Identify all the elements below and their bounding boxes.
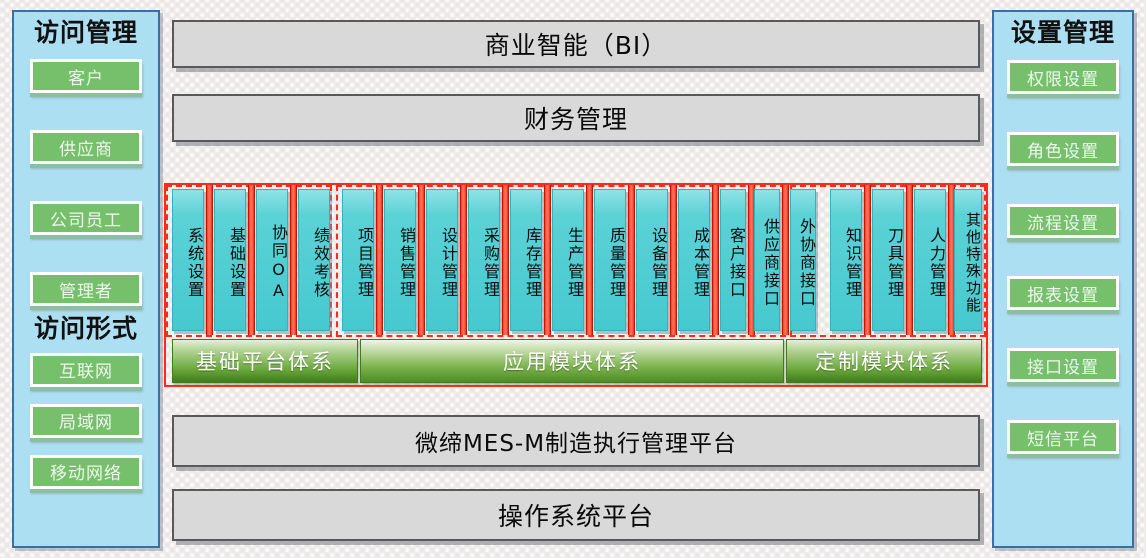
system-bar-application-modules[interactable]: 应用模块体系: [360, 339, 784, 383]
left-subitem-lan[interactable]: 局域网: [30, 404, 142, 438]
module-column-equipment-management[interactable]: 设备管理: [636, 189, 668, 331]
module-label: 成本管理: [679, 200, 709, 325]
right-settings-panel: 设置管理 权限设置 角色设置 流程设置 报表设置 接口设置 短信平台: [992, 10, 1134, 548]
left-item-label: 管理者: [59, 277, 113, 302]
left-panel-subtitle: 访问形式: [14, 316, 158, 342]
left-item-supplier[interactable]: 供应商: [30, 130, 142, 164]
system-bar-row: 基础平台体系 应用模块体系 定制模块体系: [164, 339, 988, 383]
module-column-other-special-functions[interactable]: 其他特殊功能: [954, 189, 982, 331]
bar-label: 微缔MES-M制造执行管理平台: [415, 424, 737, 458]
left-item-customer[interactable]: 客户: [30, 59, 142, 93]
bar-label: 商业智能（BI）: [485, 26, 668, 62]
module-label: 设备管理: [637, 200, 667, 325]
module-column-supplier-interface[interactable]: 供应商接口: [754, 189, 780, 331]
module-column-design-management[interactable]: 设计管理: [426, 189, 458, 331]
right-item-interface-settings[interactable]: 接口设置: [1007, 348, 1119, 382]
module-label: 知识管理: [831, 200, 861, 325]
column-separator: [712, 185, 719, 335]
column-separator: [376, 185, 383, 335]
module-label: 客户接口: [721, 200, 745, 325]
module-column-human-resource-management[interactable]: 人力管理: [914, 189, 946, 331]
module-column-inventory-management[interactable]: 库存管理: [510, 189, 542, 331]
module-column-outsourcing-interface[interactable]: 外协商接口: [790, 189, 816, 331]
system-bar-custom-modules[interactable]: 定制模块体系: [786, 339, 982, 383]
bar-operating-system-platform: 操作系统平台: [172, 489, 980, 541]
right-item-label: 接口设置: [1027, 353, 1099, 378]
module-column-basic-settings[interactable]: 基础设置: [214, 189, 246, 331]
module-label: 刀具管理: [873, 200, 903, 325]
left-item-employee[interactable]: 公司员工: [30, 201, 142, 235]
bar-label: 操作系统平台: [498, 497, 654, 533]
column-separator: [544, 185, 551, 335]
module-label: 人力管理: [915, 200, 945, 325]
module-label: 采购管理: [469, 200, 499, 325]
right-item-label: 权限设置: [1027, 65, 1099, 90]
bar-finance-management: 财务管理: [172, 94, 980, 142]
right-item-role-settings[interactable]: 角色设置: [1007, 132, 1119, 166]
column-separator: [290, 185, 297, 335]
system-bar-label: 定制模块体系: [815, 346, 953, 376]
column-separator: [782, 185, 789, 335]
module-column-performance-assessment[interactable]: 绩效考核: [298, 189, 330, 331]
module-column-knowledge-management[interactable]: 知识管理: [830, 189, 862, 331]
left-item-label: 供应商: [59, 135, 113, 160]
module-column-collaborative-oa[interactable]: 协同OA: [256, 189, 288, 331]
bar-business-intelligence: 商业智能（BI）: [172, 20, 980, 68]
module-column-tooling-management[interactable]: 刀具管理: [872, 189, 904, 331]
module-label: 设计管理: [427, 200, 457, 325]
system-bar-basic-platform[interactable]: 基础平台体系: [172, 339, 358, 383]
module-column-customer-interface[interactable]: 客户接口: [720, 189, 746, 331]
left-item-manager[interactable]: 管理者: [30, 272, 142, 306]
column-separator: [586, 185, 593, 335]
left-subitem-internet[interactable]: 互联网: [30, 353, 142, 387]
left-subitem-label: 互联网: [59, 357, 113, 382]
left-item-label: 客户: [68, 64, 104, 89]
right-item-permission-settings[interactable]: 权限设置: [1007, 60, 1119, 94]
column-separator: [906, 185, 913, 335]
bar-label: 财务管理: [524, 100, 628, 136]
left-subitem-label: 局域网: [59, 408, 113, 433]
diagram-canvas: 访问管理 客户 供应商 公司员工 管理者 访问形式 互联网 局域网 移动网络 设…: [0, 0, 1146, 558]
module-column-cost-management[interactable]: 成本管理: [678, 189, 710, 331]
module-column-quality-management[interactable]: 质量管理: [594, 189, 626, 331]
module-column-project-management[interactable]: 项目管理: [342, 189, 374, 331]
bar-mes-platform: 微缔MES-M制造执行管理平台: [172, 415, 980, 467]
right-panel-title: 设置管理: [994, 20, 1132, 46]
right-item-label: 短信平台: [1027, 425, 1099, 450]
module-label: 基础设置: [215, 200, 245, 325]
module-label: 库存管理: [511, 200, 541, 325]
module-column-purchase-management[interactable]: 采购管理: [468, 189, 500, 331]
left-panel-title: 访问管理: [14, 20, 158, 46]
system-bar-label: 应用模块体系: [503, 346, 641, 376]
column-separator: [248, 185, 255, 335]
column-separator: [206, 185, 213, 335]
right-item-label: 流程设置: [1027, 209, 1099, 234]
right-item-sms-platform[interactable]: 短信平台: [1007, 420, 1119, 454]
column-separator: [502, 185, 509, 335]
column-separator: [628, 185, 635, 335]
right-item-label: 报表设置: [1027, 281, 1099, 306]
right-item-label: 角色设置: [1027, 137, 1099, 162]
module-label: 销售管理: [385, 200, 415, 325]
module-label: 系统设置: [173, 200, 203, 325]
right-item-report-settings[interactable]: 报表设置: [1007, 276, 1119, 310]
column-separator: [670, 185, 677, 335]
module-label: 供应商接口: [755, 200, 779, 325]
module-label: 质量管理: [595, 200, 625, 325]
module-zone: 系统设置 基础设置 协同OA 绩效考核 项目管理 销售管理 设计管理 采购管理 …: [164, 183, 988, 395]
module-column-production-management[interactable]: 生产管理: [552, 189, 584, 331]
right-item-process-settings[interactable]: 流程设置: [1007, 204, 1119, 238]
module-label: 项目管理: [343, 200, 373, 325]
module-label: 外协商接口: [791, 200, 815, 325]
left-subitem-mobile[interactable]: 移动网络: [30, 455, 142, 489]
module-label: 生产管理: [553, 200, 583, 325]
left-access-panel: 访问管理 客户 供应商 公司员工 管理者 访问形式 互联网 局域网 移动网络: [12, 10, 160, 548]
module-label: 协同OA: [257, 200, 287, 325]
column-separator: [864, 185, 871, 335]
module-column-system-settings[interactable]: 系统设置: [172, 189, 204, 331]
system-bar-label: 基础平台体系: [196, 346, 334, 376]
left-item-label: 公司员工: [50, 206, 122, 231]
column-separator: [418, 185, 425, 335]
module-column-sales-management[interactable]: 销售管理: [384, 189, 416, 331]
module-label: 其他特殊功能: [955, 200, 981, 325]
column-separator: [460, 185, 467, 335]
left-subitem-label: 移动网络: [50, 459, 122, 484]
module-label: 绩效考核: [299, 200, 329, 325]
